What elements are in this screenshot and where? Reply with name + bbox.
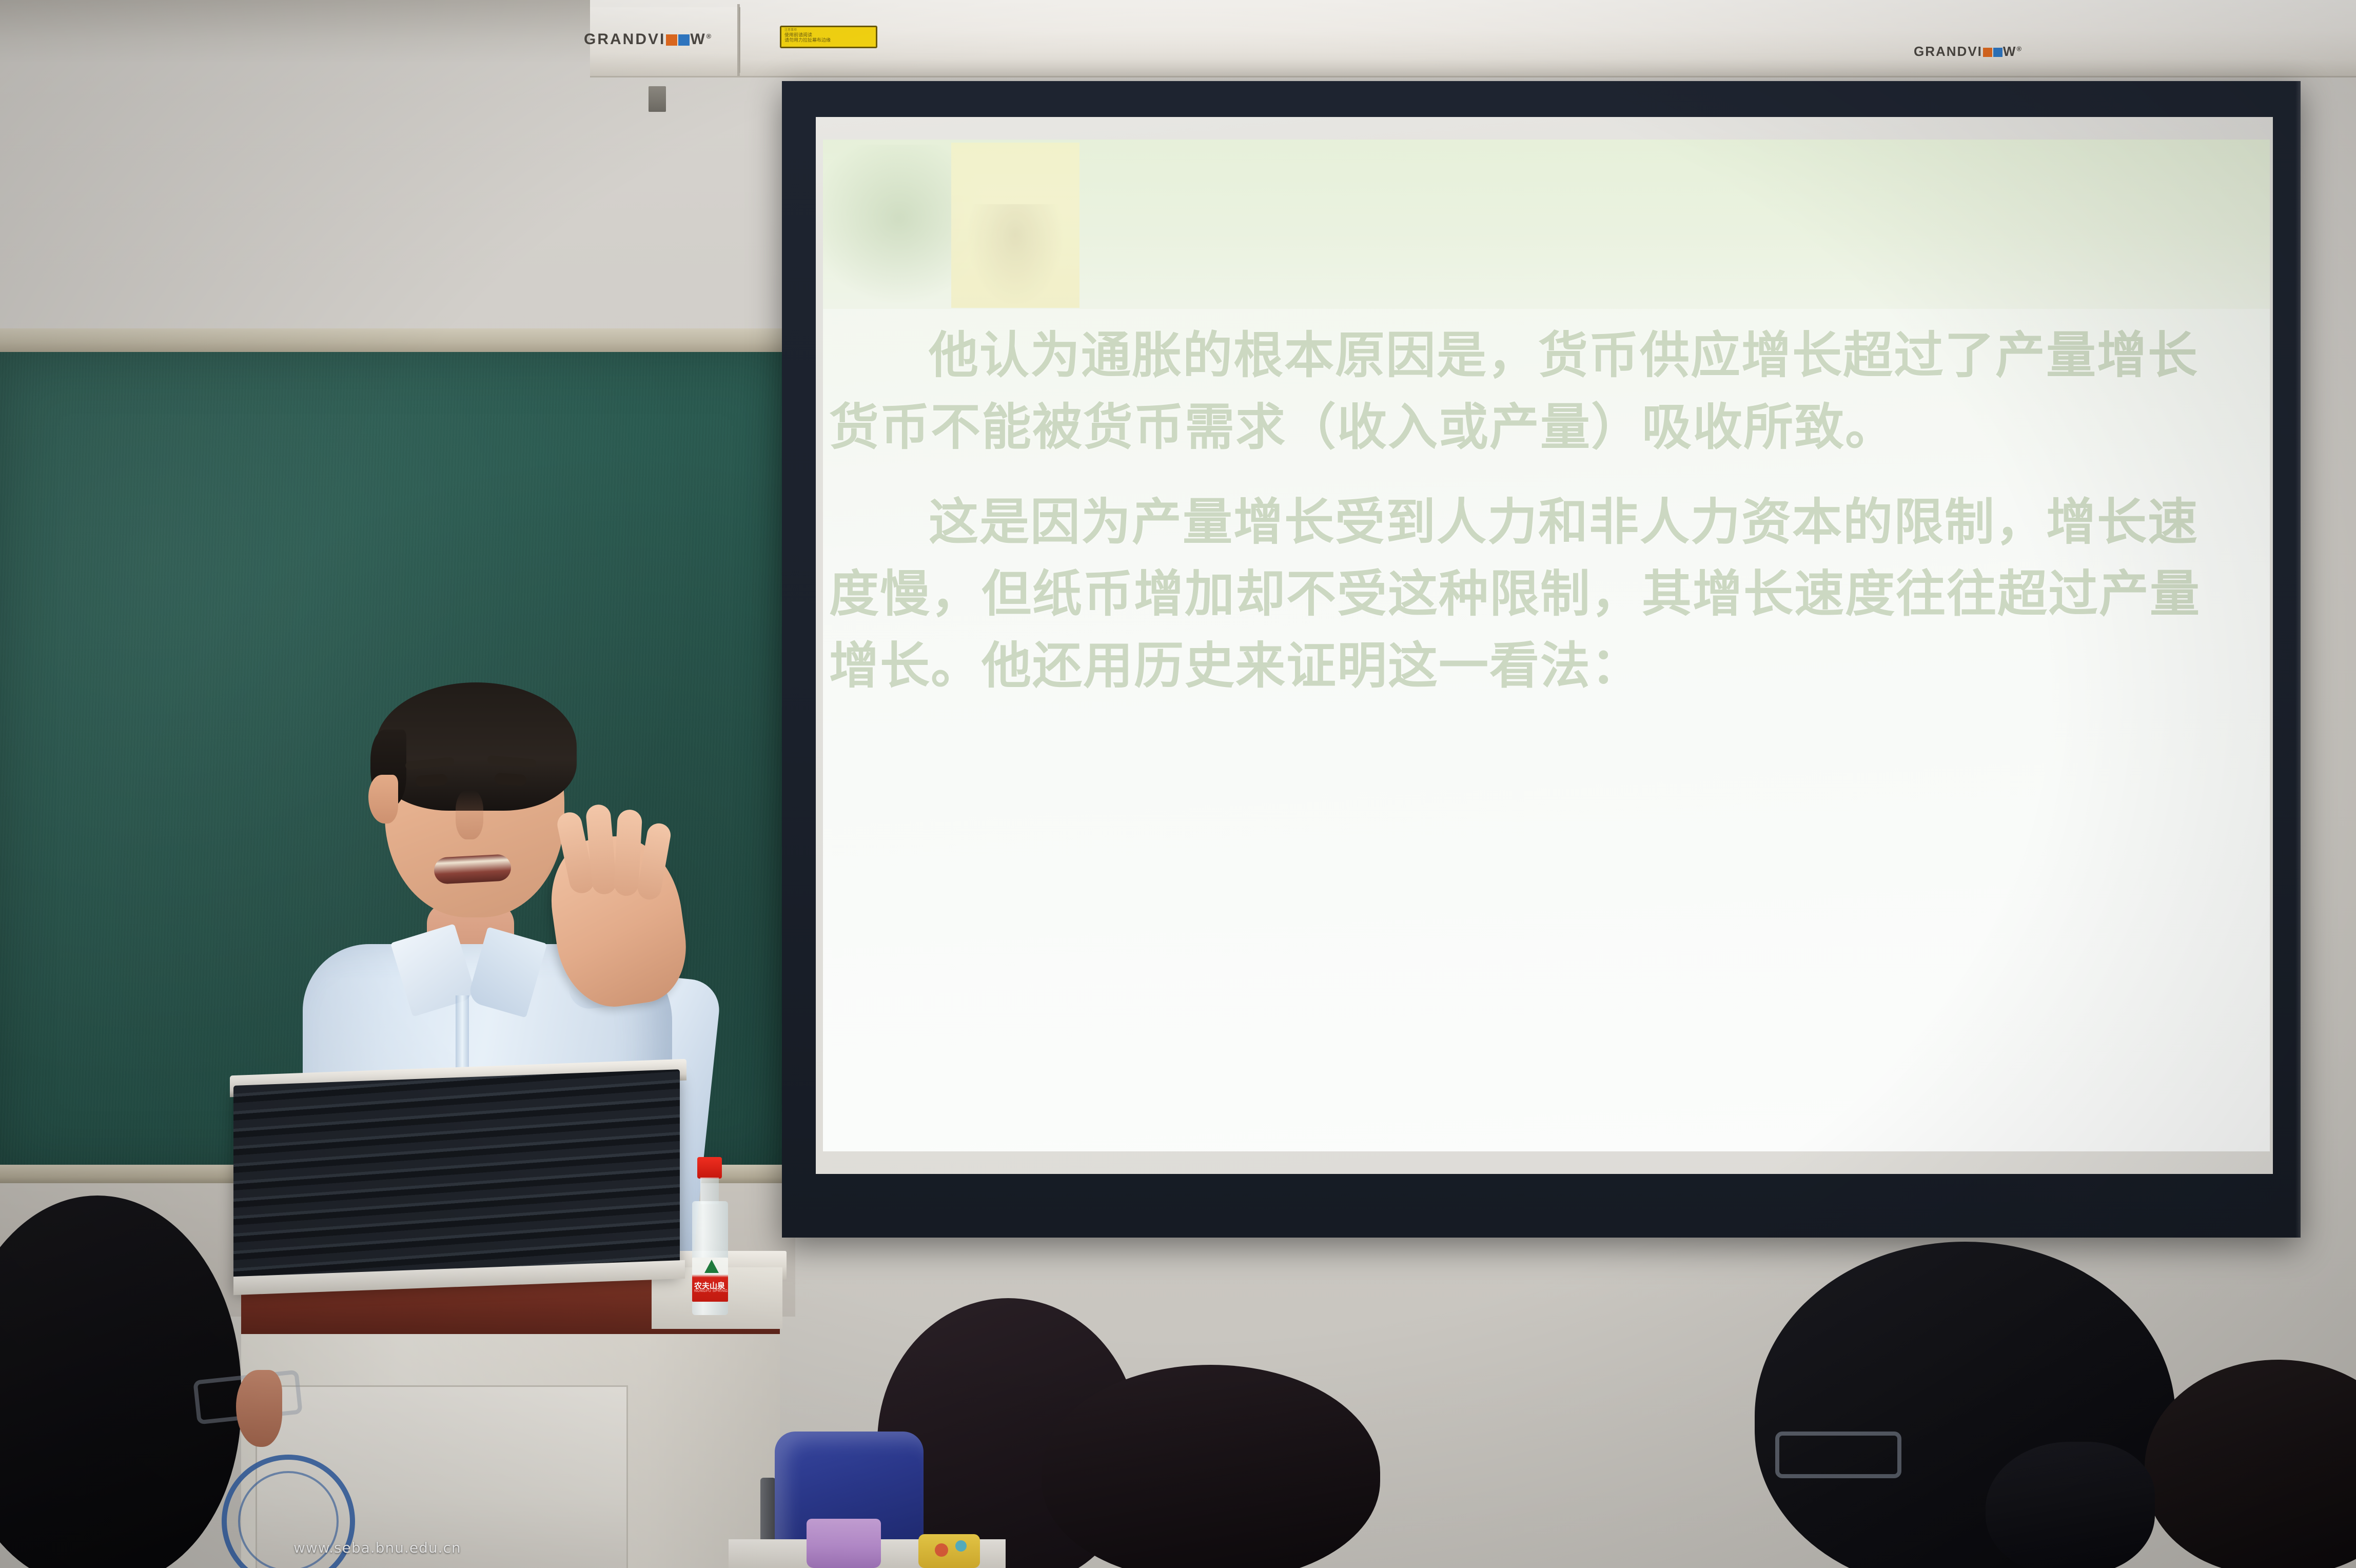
grandview-mark-blue xyxy=(678,34,690,46)
projected-slide: 他认为通胀的根本原因是，货币供应增长超过了产量增长货币不能被货币需求（收入或产量… xyxy=(823,140,2270,1151)
slide-paragraph-2: 这是因为产量增长受到人力和非人力资本的限制，增长速度慢，但纸币增加却不受这种限制… xyxy=(829,487,2230,702)
warning-label-line0: 注意事项 xyxy=(784,29,873,32)
housing-mount-bracket xyxy=(649,86,666,112)
water-bottle[interactable]: 农夫山泉 NONGFU SPRING xyxy=(690,1157,730,1316)
grandview-logo-right: GRANDVIW® xyxy=(1914,44,2023,60)
mountain-logo-icon xyxy=(704,1260,719,1273)
desk-object xyxy=(918,1534,980,1568)
lecturer-mouth xyxy=(434,854,512,885)
bottle-brand-en: NONGFU SPRING xyxy=(694,1289,728,1293)
bottle-label: 农夫山泉 NONGFU SPRING xyxy=(692,1258,728,1302)
watermark-url: www.seba.bnu.edu.cn xyxy=(293,1539,461,1556)
chalkboard-top-frame xyxy=(0,328,795,353)
housing-seam xyxy=(737,4,740,76)
lecturer-ear xyxy=(368,775,398,824)
purple-cup[interactable] xyxy=(807,1519,881,1568)
grandview-text-left: GRANDVIW® xyxy=(584,31,713,48)
audience-head-center xyxy=(1042,1365,1380,1568)
slide-body-text: 他认为通胀的根本原因是，货币供应增长超过了产量增长货币不能被货币需求（收入或产量… xyxy=(829,320,2230,726)
desk-object-detail xyxy=(955,1540,967,1552)
lecturer-eye-left xyxy=(415,774,447,787)
desk-object-detail xyxy=(935,1543,948,1557)
slide-decorative-image-center xyxy=(951,143,1079,308)
audience-ear-left xyxy=(236,1370,282,1447)
bottle-cap xyxy=(697,1157,722,1179)
projection-screen-border: 他认为通胀的根本原因是，货币供应增长超过了产量增长货币不能被货币需求（收入或产量… xyxy=(782,81,2301,1238)
slide-paragraph-1: 他认为通胀的根本原因是，货币供应增长超过了产量增长货币不能被货币需求（收入或产量… xyxy=(829,320,2230,463)
lecture-hall-photo: GRANDVIW® GRANDVIW® 注意事项 使用前请阅读 请勿用力拉扯幕布… xyxy=(0,0,2356,1568)
projection-screen-surface: 他认为通胀的根本原因是，货币供应增长超过了产量增长货币不能被货币需求（收入或产量… xyxy=(816,117,2273,1174)
audience-glasses-right xyxy=(1775,1432,1901,1478)
lecturer-nose xyxy=(456,790,483,839)
warning-label-line1: 使用前请阅读 xyxy=(784,32,873,37)
laptop-rear-panel[interactable] xyxy=(233,1069,680,1288)
lecturer-eye-right xyxy=(494,773,526,786)
warning-label: 注意事项 使用前请阅读 请勿用力拉扯幕布边缘 xyxy=(780,26,877,48)
grandview-mark-orange xyxy=(1983,48,1992,57)
bottle-neck xyxy=(700,1178,719,1204)
grandview-mark-blue xyxy=(1993,48,2002,57)
grandview-text-right: GRANDVIW® xyxy=(1914,44,2023,59)
audience-ponytail xyxy=(1986,1442,2155,1568)
grandview-logo-left: GRANDVIW® xyxy=(584,31,713,48)
grandview-mark-orange xyxy=(666,34,677,46)
warning-label-line2: 请勿用力拉扯幕布边缘 xyxy=(784,37,873,43)
